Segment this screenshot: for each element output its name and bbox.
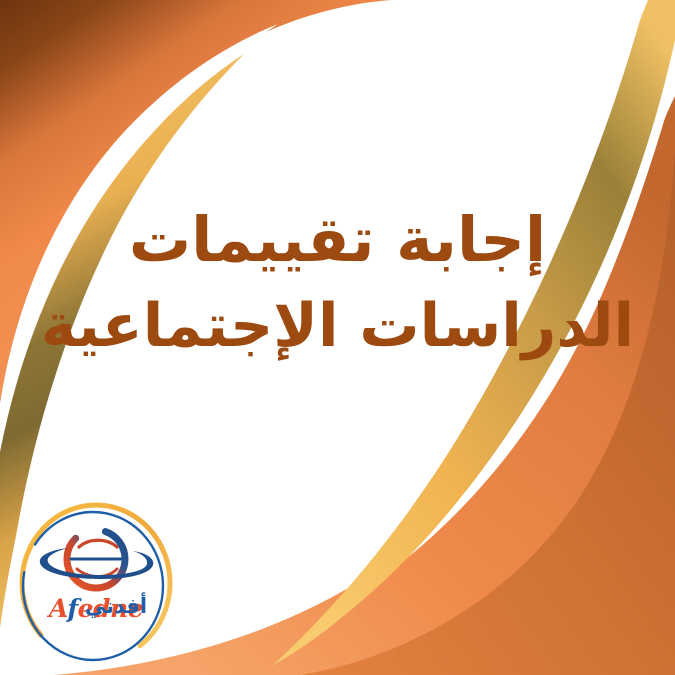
logo-latin-a: A <box>49 594 67 623</box>
logo-graphic <box>13 497 179 669</box>
logo-latin-f: f <box>67 594 77 623</box>
logo-arabic-name: أفدني <box>85 589 147 623</box>
logo-wordmark: Afedne أفدني <box>13 592 179 626</box>
afedne-logo[interactable]: Afedne أفدني <box>13 497 179 669</box>
logo-planet-inner-arc <box>79 540 117 547</box>
cover-canvas: إجابة تقييمات الدراسات الإجتماعية <box>0 0 675 675</box>
logo-orbit-ring <box>40 548 154 579</box>
